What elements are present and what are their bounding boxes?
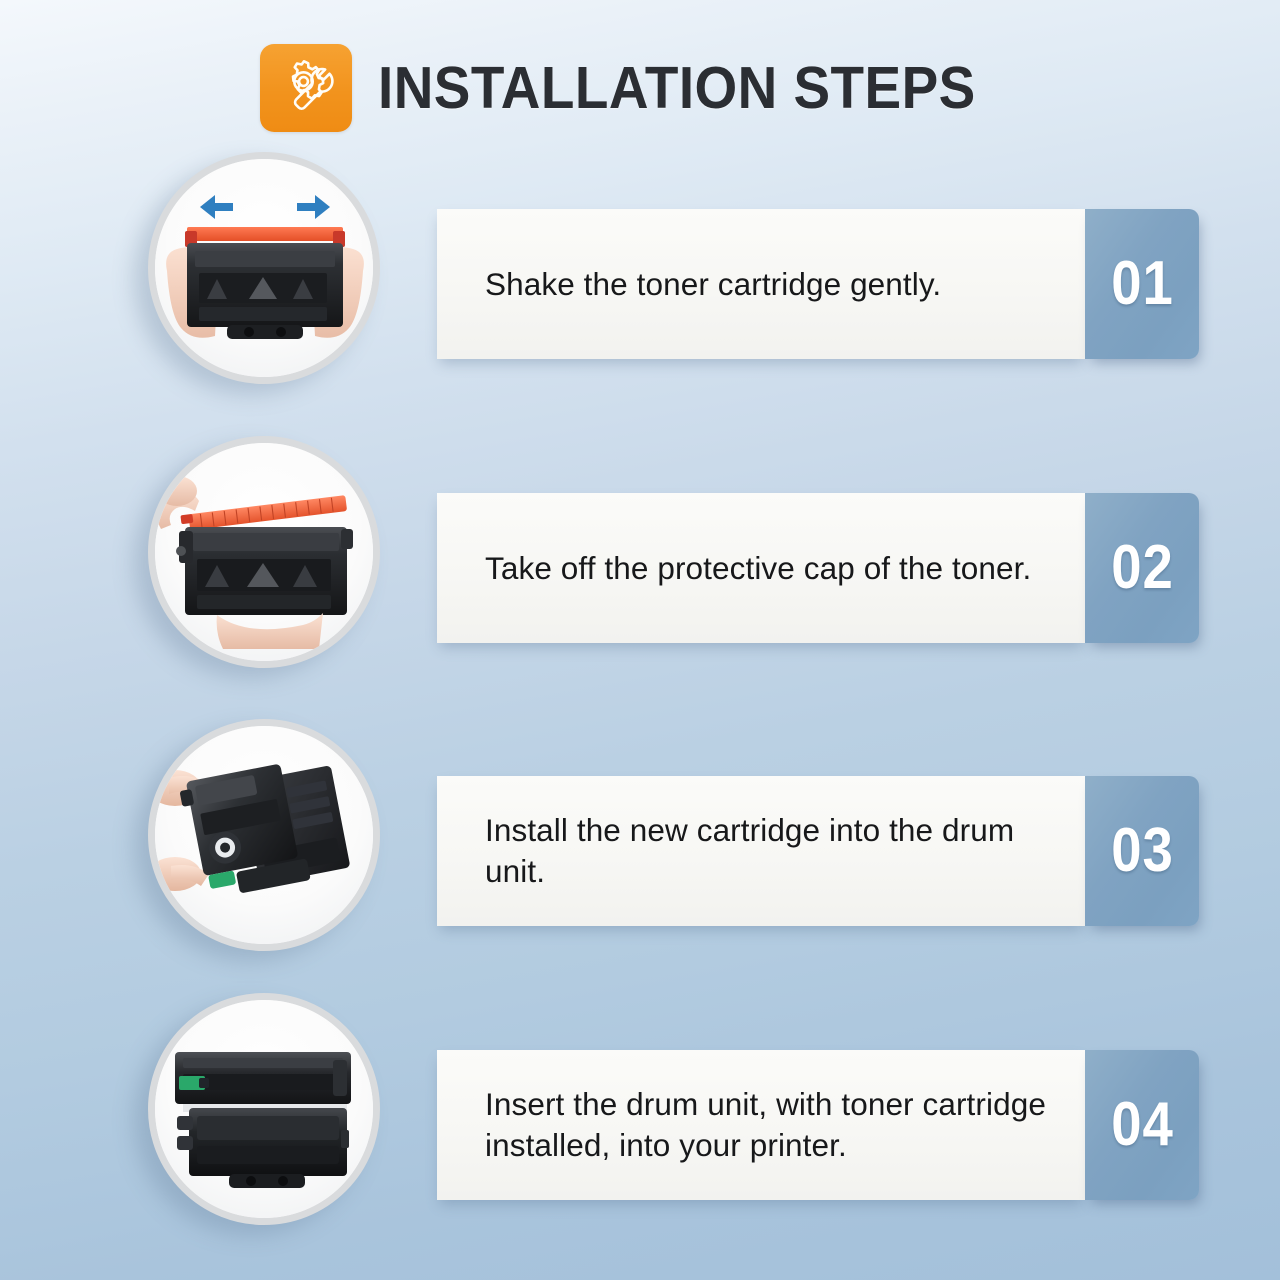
step-text: Shake the toner cartridge gently.: [437, 264, 959, 305]
remove-protective-cap-photo: [148, 436, 380, 668]
step-row: Shake the toner cartridge gently. 01: [0, 140, 1280, 424]
step-row: Insert the drum unit, with toner cartrid…: [0, 981, 1280, 1265]
insert-drum-unit-photo: [148, 993, 380, 1225]
step-number: 01: [1111, 253, 1173, 315]
step-number-badge: 03: [1085, 776, 1199, 926]
install-cartridge-into-drum-photo: [148, 719, 380, 951]
step-number: 04: [1111, 1094, 1173, 1156]
step-row: Take off the protective cap of the toner…: [0, 424, 1280, 708]
step-number-badge: 01: [1085, 209, 1199, 359]
step-text-plate: Install the new cartridge into the drum …: [437, 776, 1085, 926]
step-text: Install the new cartridge into the drum …: [437, 810, 1085, 892]
installation-steps-list: Shake the toner cartridge gently. 01: [0, 0, 1280, 1280]
step-text-plate: Shake the toner cartridge gently.: [437, 209, 1085, 359]
step-text-plate: Insert the drum unit, with toner cartrid…: [437, 1050, 1085, 1200]
step-number-badge: 02: [1085, 493, 1199, 643]
step-number-badge: 04: [1085, 1050, 1199, 1200]
step-number: 03: [1111, 820, 1173, 882]
step-row: Install the new cartridge into the drum …: [0, 707, 1280, 991]
shake-toner-cartridge-photo: [148, 152, 380, 384]
step-text: Take off the protective cap of the toner…: [437, 548, 1049, 589]
step-text: Insert the drum unit, with toner cartrid…: [437, 1084, 1085, 1166]
step-number: 02: [1111, 537, 1173, 599]
step-text-plate: Take off the protective cap of the toner…: [437, 493, 1085, 643]
